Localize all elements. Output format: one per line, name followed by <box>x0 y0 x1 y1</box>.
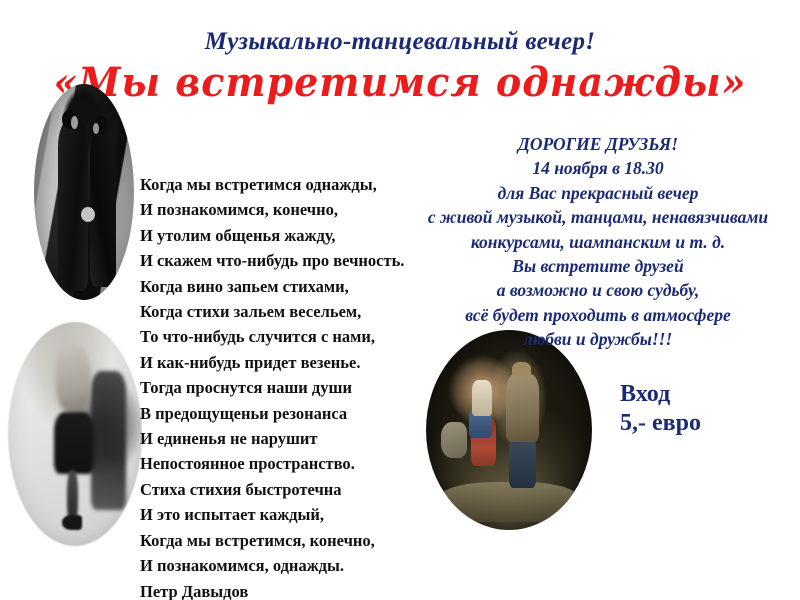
poem-line: И единенья не нарушит <box>140 426 440 451</box>
announcement-line: 14 ноября в 18.30 <box>396 156 800 180</box>
poem-line: И утолим общенья жажду, <box>140 223 440 248</box>
painting-man-legs <box>509 436 536 488</box>
painting-ground <box>439 482 578 522</box>
announcement-line: любви и дружбы!!! <box>396 327 800 351</box>
dancer-hair <box>56 344 91 411</box>
poem-line: Когда стихи зальем весельем, <box>140 299 440 324</box>
poem-line: И познакомимся, конечно, <box>140 197 440 222</box>
poster-title-secondary: «Мы встретимся однажды» <box>0 58 800 106</box>
poem-line: И познакомимся, однажды. <box>140 553 440 578</box>
photo-painting-color <box>426 330 592 530</box>
announcement-line: с живой музыкой, танцами, ненавязчивами <box>396 205 800 229</box>
announcement-line: Вы встретите друзей <box>396 254 800 278</box>
figure-man <box>58 119 88 292</box>
poem-line: Когда мы встретимся однажды, <box>140 172 440 197</box>
announcement-line: а возможно и свою судьбу, <box>396 278 800 302</box>
poem-block: Когда мы встретимся однажды, И познакоми… <box>140 172 440 600</box>
poem-line: И это испытает каждый, <box>140 502 440 527</box>
announcement-line: ДОРОГИЕ ДРУЗЬЯ! <box>396 132 800 156</box>
entry-price-amount: 5,- евро <box>620 409 701 438</box>
dancer-partner <box>91 371 126 510</box>
announcement-line: всё будет проходить в атмосфере <box>396 303 800 327</box>
event-poster: Музыкально-танцевальный вечер! «Мы встре… <box>0 0 800 600</box>
poster-title-primary: Музыкально-танцевальный вечер! <box>0 28 800 56</box>
announcement-line: конкурсами, шампанским и т. д. <box>396 230 800 254</box>
painting-man-coat <box>506 374 539 442</box>
poem-line: И как-нибудь придет везенье. <box>140 350 440 375</box>
painting-rock <box>441 422 468 458</box>
poem-line: И скажем что-нибудь про вечность. <box>140 248 440 273</box>
poem-line: Тогда проснутся наши души <box>140 375 440 400</box>
photo-dancer-bw <box>8 322 142 546</box>
poem-line: Непостоянное пространство. <box>140 451 440 476</box>
announcement-line: для Вас прекрасный вечер <box>396 181 800 205</box>
poem-line: Стиха стихия быстротечна <box>140 477 440 502</box>
poem-line: То что-нибудь случится с нами, <box>140 324 440 349</box>
painting-woman-blouse <box>472 380 492 416</box>
figure-woman <box>90 127 116 287</box>
dancer-skirt <box>54 412 94 475</box>
entry-price-label: Вход <box>620 380 701 409</box>
painting-man-hat <box>512 362 530 376</box>
poem-line: В предощущеньи резонанса <box>140 401 440 426</box>
dancer-shoe <box>62 515 82 531</box>
poem-line: Когда мы встретимся, конечно, <box>140 528 440 553</box>
figure-woman-face <box>93 123 99 134</box>
poem-author: Петр Давыдов <box>140 579 440 600</box>
poem-line: Когда вино запьем стихами, <box>140 274 440 299</box>
announcement-block: ДОРОГИЕ ДРУЗЬЯ! 14 ноября в 18.30 для Ва… <box>396 132 800 352</box>
entry-price-block: Вход 5,- евро <box>620 380 701 438</box>
photo-couple-bw <box>34 84 134 300</box>
